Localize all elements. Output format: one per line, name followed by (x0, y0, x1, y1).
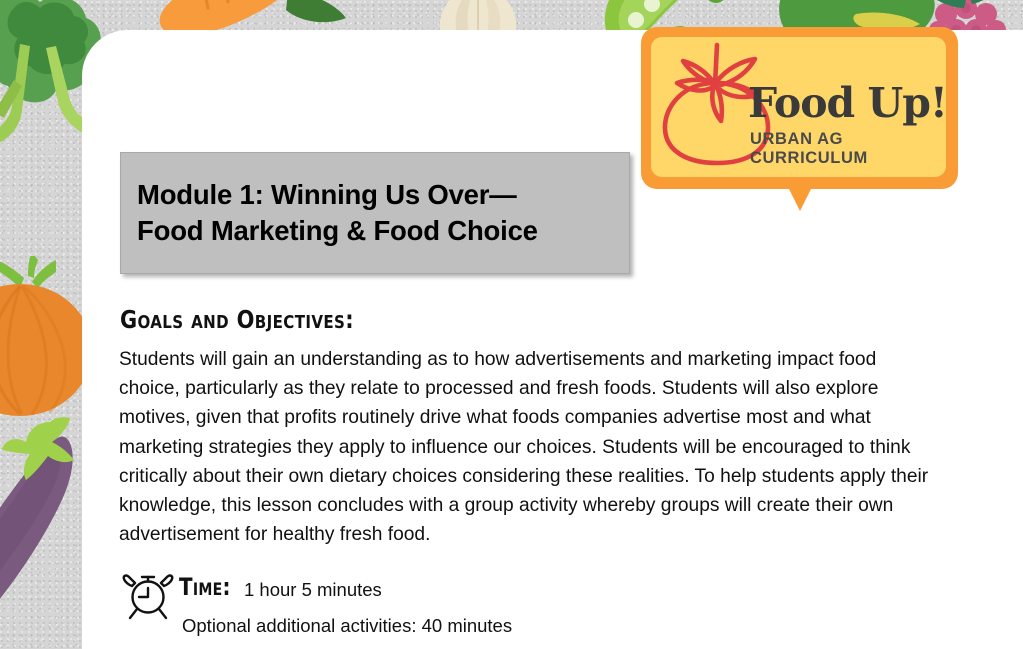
alarm-clock-icon (122, 570, 174, 620)
speech-bubble-tail (787, 185, 813, 211)
logo-subtitle: URBAN AG CURRICULUM (750, 130, 958, 168)
time-value: 1 hour 5 minutes (244, 579, 382, 601)
goals-body-text: Students will gain an understanding as t… (119, 345, 931, 549)
page-title: Module 1: Winning Us Over— Food Marketin… (121, 177, 538, 249)
logo-wordmark: Food Up! (748, 79, 947, 127)
goals-heading: Goals and Objectives: (120, 305, 354, 334)
time-label: Time: (179, 573, 231, 601)
module-title-plate: Module 1: Winning Us Over— Food Marketin… (120, 152, 630, 274)
food-up-logo: Food Up! URBAN AG CURRICULUM (641, 27, 958, 189)
time-optional-activities: Optional additional activities: 40 minut… (182, 615, 512, 637)
